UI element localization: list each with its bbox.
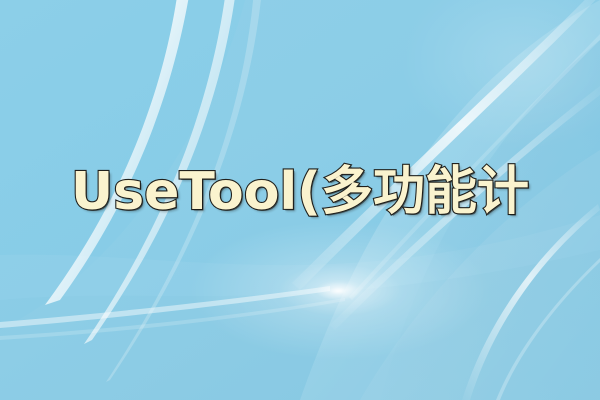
banner-image: UseTool(多功能计 bbox=[0, 0, 600, 400]
banner-headline: UseTool(多功能计 bbox=[71, 166, 529, 218]
headline-container: UseTool(多功能计 bbox=[0, 0, 600, 400]
